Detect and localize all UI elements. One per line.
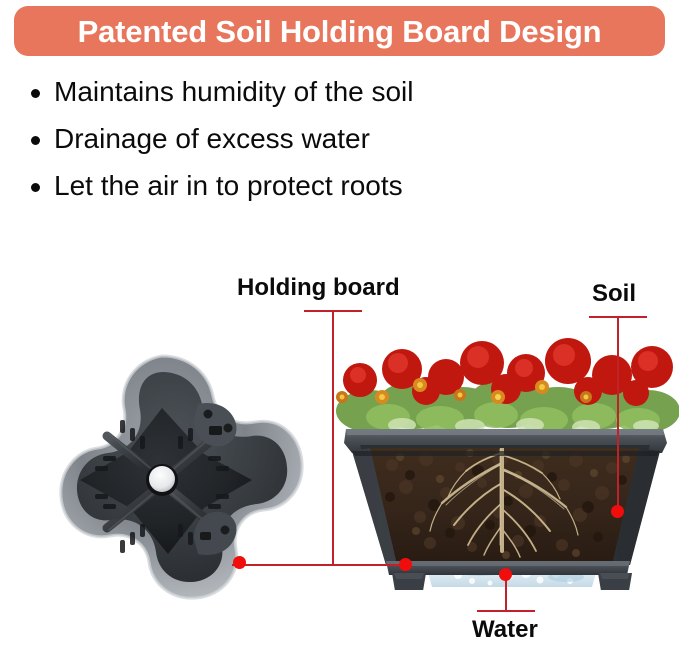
product-diagram: Holding board Soil Water bbox=[0, 230, 679, 651]
holding-board-photo bbox=[12, 348, 312, 638]
soil-leader-vertical bbox=[617, 316, 619, 512]
holding-board-leader-vertical bbox=[332, 310, 334, 566]
page-title: Patented Soil Holding Board Design bbox=[78, 16, 602, 47]
bullet-icon bbox=[31, 89, 40, 98]
feature-list: Maintains humidity of the soil Drainage … bbox=[20, 68, 580, 209]
planter-cutaway-photo bbox=[330, 325, 679, 590]
feature-item-label: Let the air in to protect roots bbox=[54, 170, 403, 201]
holding-board-label: Holding board bbox=[237, 276, 400, 300]
water-label: Water bbox=[472, 618, 538, 642]
flower-cluster bbox=[336, 338, 679, 434]
feature-item-label: Maintains humidity of the soil bbox=[54, 76, 414, 107]
board-rib-structure bbox=[80, 403, 252, 555]
feature-item: Drainage of excess water bbox=[20, 115, 580, 162]
holding-board-marker-dot bbox=[399, 558, 412, 571]
feature-item-label: Drainage of excess water bbox=[54, 123, 370, 154]
soil-marker-dot bbox=[611, 505, 624, 518]
feature-item: Let the air in to protect roots bbox=[20, 162, 580, 209]
header-banner: Patented Soil Holding Board Design bbox=[14, 6, 665, 56]
bullet-icon bbox=[31, 136, 40, 145]
bullet-icon bbox=[31, 183, 40, 192]
water-leader-vertical bbox=[505, 578, 507, 612]
water-marker-dot bbox=[499, 568, 512, 581]
soil-label: Soil bbox=[592, 282, 636, 306]
holding-board-leader-horizontal bbox=[232, 564, 408, 566]
holding-board-marker-dot-left bbox=[233, 556, 246, 569]
feature-item: Maintains humidity of the soil bbox=[20, 68, 580, 115]
center-drainage-hole bbox=[149, 466, 175, 492]
